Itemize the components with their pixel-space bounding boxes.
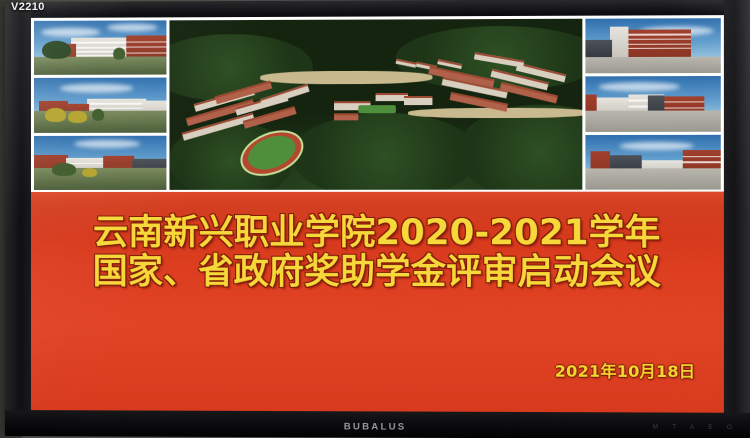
photo-aerial-masterplan	[169, 19, 582, 191]
bezel-left	[5, 2, 31, 436]
photo-left-2	[34, 78, 166, 133]
display-brand-logo: BUBALUS	[5, 420, 750, 434]
bezel-right	[724, 0, 750, 438]
banner-date: 2021年10月18日	[555, 357, 695, 382]
television-display: 云南新兴职业学院2020-2021学年 国家、省政府奖助学金评审启动会议 202…	[5, 0, 750, 438]
banner-title-line-1: 云南新兴职业学院2020-2021学年	[31, 214, 724, 254]
photo-left-1	[34, 20, 166, 75]
room-background: 云南新兴职业学院2020-2021学年 国家、省政府奖助学金评审启动会议 202…	[0, 0, 750, 438]
photo-right-1	[585, 18, 720, 74]
photo-column-left	[34, 20, 166, 190]
photo-grid	[31, 15, 724, 192]
photo-left-3	[34, 136, 166, 191]
watermark-label: V2210	[11, 1, 45, 13]
banner-title-line-2: 国家、省政府奖助学金评审启动会议	[31, 253, 724, 293]
banner-title-block: 云南新兴职业学院2020-2021学年 国家、省政府奖助学金评审启动会议	[31, 214, 724, 293]
display-brand-secondary: M T A E O	[653, 424, 739, 431]
photo-column-right	[585, 18, 720, 190]
bezel-top	[5, 0, 750, 18]
presentation-banner: 云南新兴职业学院2020-2021学年 国家、省政府奖助学金评审启动会议 202…	[31, 192, 724, 413]
photo-right-3	[585, 135, 720, 190]
photo-column-center	[169, 19, 582, 191]
screen-panel: 云南新兴职业学院2020-2021学年 国家、省政府奖助学金评审启动会议 202…	[31, 15, 724, 413]
bezel-bottom: BUBALUS M T A E O	[5, 410, 750, 438]
photo-right-2	[585, 76, 720, 131]
